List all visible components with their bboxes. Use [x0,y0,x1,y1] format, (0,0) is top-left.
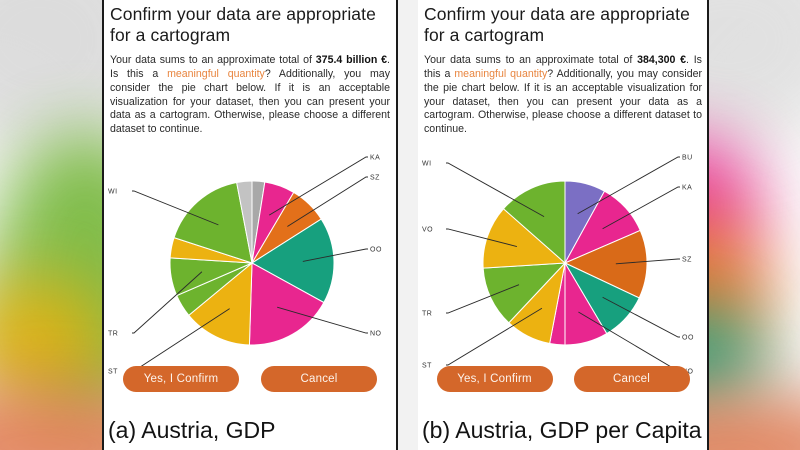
pie-chart-austria-gdp: KASZOONOSTTRWI [104,143,396,379]
body-pre: Your data sums to an approximate total o… [110,54,316,66]
pie-svg: BUKASZOONOSTTRVOWI [418,143,708,379]
dialog-actions: Yes, I Confirm Cancel [418,366,708,392]
pie-label-sz: SZ [682,256,692,263]
pie-label-vo: VO [422,226,433,233]
panel-divider [707,0,709,450]
pie-label-oo: OO [370,246,382,253]
cancel-button[interactable]: Cancel [261,366,377,392]
meaningful-quantity-link[interactable]: meaningful quantity [454,68,547,80]
dialog-actions: Yes, I Confirm Cancel [104,366,396,392]
pie-label-wi: WI [422,160,432,167]
pie-label-oo: OO [682,334,694,341]
leader-line-st [446,308,542,365]
dialog-body-text: Your data sums to an approximate total o… [418,54,708,137]
leader-line-st [132,309,230,371]
data-total-value: 375.4 billion € [316,54,387,66]
pie-label-sz: SZ [370,174,380,181]
dialog-title: Confirm your data are appropriate for a … [418,4,708,45]
dialog-panel-austria-gdp: Confirm your data are appropriate for a … [104,0,396,450]
body-pre: Your data sums to an approximate total o… [424,54,637,66]
leader-line-no [578,312,680,371]
pie-label-ka: KA [370,154,380,161]
meaningful-quantity-link[interactable]: meaningful quantity [167,68,265,80]
pie-label-bu: BU [682,154,693,161]
figure-caption: (a) Austria, GDP [104,417,396,444]
panel-divider [396,0,398,450]
pie-label-tr: TR [422,310,432,317]
pie-label-wi: WI [108,188,118,195]
pie-label-no: NO [370,330,382,337]
panel-divider [102,0,104,450]
confirm-button[interactable]: Yes, I Confirm [437,366,553,392]
pie-svg: KASZOONOSTTRWI [104,143,396,379]
pie-label-tr: TR [108,330,118,337]
dialog-body-text: Your data sums to an approximate total o… [104,54,396,137]
dialog-title: Confirm your data are appropriate for a … [104,4,396,45]
confirm-button[interactable]: Yes, I Confirm [123,366,239,392]
cancel-button[interactable]: Cancel [574,366,690,392]
data-total-value: 384,300 € [637,54,686,66]
pie-label-ka: KA [682,184,692,191]
dialog-panel-austria-gdp-per-capita: Confirm your data are appropriate for a … [418,0,708,450]
figure-caption: (b) Austria, GDP per Capita [418,417,708,444]
pie-chart-austria-gdp-per-capita: BUKASZOONOSTTRVOWI [418,143,708,379]
